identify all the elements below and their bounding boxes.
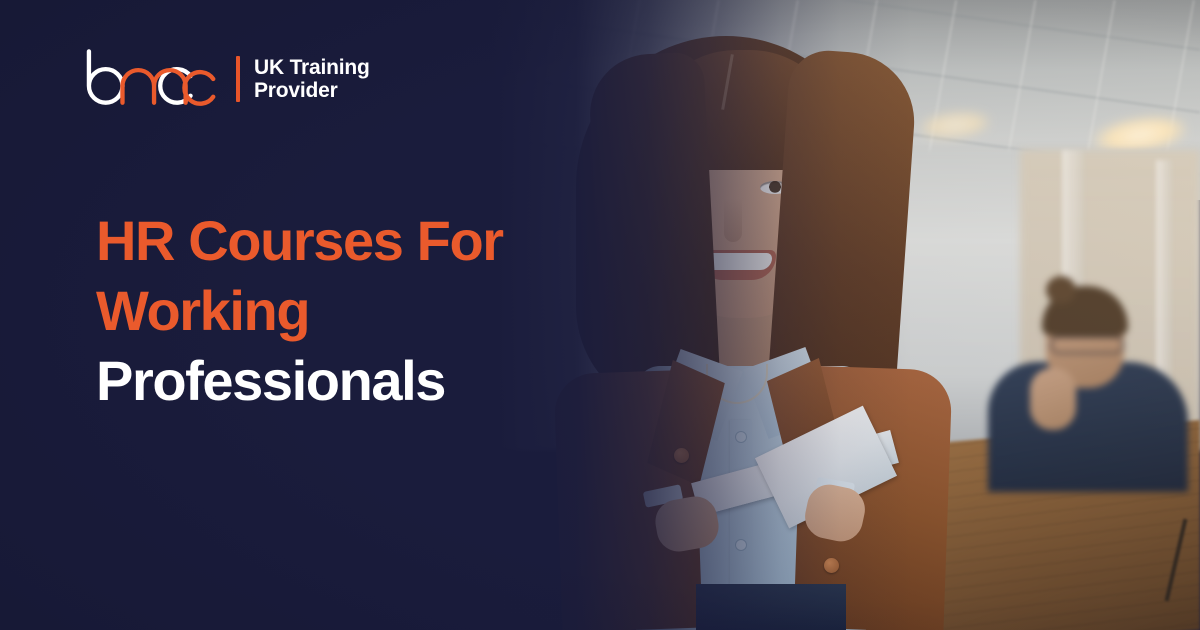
logo-tagline: UK Training Provider <box>254 56 370 102</box>
glasses-icon <box>1050 336 1124 354</box>
shirt-button <box>736 540 746 550</box>
bmc-wordmark-icon <box>84 48 232 110</box>
bmc-logo[interactable]: UK Training Provider <box>84 48 370 110</box>
woman-trousers <box>696 584 846 630</box>
logo-tagline-line2: Provider <box>254 79 338 102</box>
headline-line-2: Working <box>96 276 616 346</box>
headline-line-3: Professionals <box>96 346 616 416</box>
logo-tagline-line1: UK Training <box>254 56 370 79</box>
logo-divider <box>236 56 240 102</box>
headline-line-1: HR Courses For <box>96 206 616 276</box>
background-person <box>994 282 1184 492</box>
shirt-button <box>736 432 746 442</box>
woman-nose <box>724 198 742 242</box>
man-hand <box>1030 368 1076 430</box>
man-hair-bun <box>1046 276 1076 304</box>
blazer-button <box>824 558 839 573</box>
promo-banner: UK Training Provider HR Courses For Work… <box>0 0 1200 630</box>
page-title: HR Courses For Working Professionals <box>96 206 616 416</box>
blazer-button <box>674 448 689 463</box>
